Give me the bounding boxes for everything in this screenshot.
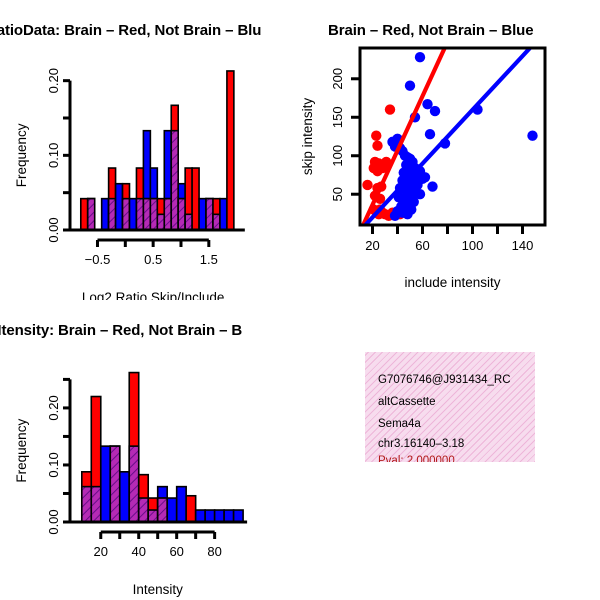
x-axis-label: Intensity: [133, 582, 184, 597]
x-tick-label: −0.5: [85, 252, 111, 267]
event-type-text: altCassette: [378, 396, 436, 408]
hist-bar-brain: [192, 168, 199, 230]
hist-bar-notbrain: [129, 199, 136, 230]
scatter-point-brain: [371, 131, 381, 141]
hist-bar-notbrain: [220, 199, 227, 230]
x-tick-label: 40: [131, 544, 145, 559]
hist-bar-notbrain: [177, 487, 186, 522]
x-tick-label: 20: [94, 544, 108, 559]
hist-bar-overlap: [171, 131, 178, 230]
hist-bar-overlap: [129, 446, 138, 522]
hist-bar-overlap: [139, 498, 148, 522]
scatter-point-notbrain: [402, 209, 412, 219]
hist-bar-overlap: [110, 446, 119, 522]
ratio-histogram-plot: 0.000.100.20Frequency−0.50.51.5Log2 Rati…: [0, 0, 300, 300]
fit-line-notbrain: [363, 48, 531, 228]
hist-bars-group: [81, 71, 234, 230]
hist-bar-overlap: [157, 214, 164, 230]
y-axis-label: Frequency: [14, 123, 29, 187]
figure-canvas: RatioData: Brain – Red, Not Brain – Blu …: [0, 0, 600, 600]
hist-bar-overlap: [150, 199, 157, 230]
y-tick-label: 0.10: [46, 452, 61, 477]
panel-info: G7076746@J931434_RC altCassette Sema4a c…: [300, 300, 600, 600]
scatter-point-notbrain: [390, 211, 400, 221]
hist-bars-group: [82, 373, 243, 522]
info-box: G7076746@J931434_RC altCassette Sema4a c…: [365, 352, 535, 462]
hist-bar-notbrain: [205, 510, 214, 522]
hist-bar-overlap: [164, 199, 171, 230]
y-tick-label: 0.00: [46, 509, 61, 534]
hist-bar-brain: [227, 71, 234, 230]
x-tick-label: 80: [207, 544, 221, 559]
hist-bar-overlap: [109, 199, 116, 230]
x-tick-label: 140: [512, 238, 534, 253]
hist-bar-overlap: [213, 214, 220, 230]
hist-bar-notbrain: [102, 199, 109, 230]
scatter-point-notbrain: [415, 52, 425, 62]
scatter-point-brain: [385, 104, 395, 114]
scatter-inner: [362, 42, 537, 228]
hist-bar-notbrain: [101, 446, 110, 522]
panel-scatter: Brain – Red, Not Brain – Blue 5010015020…: [300, 0, 600, 300]
hist-bar-overlap: [82, 487, 91, 522]
event-id-text: G7076746@J931434_RC: [378, 374, 511, 386]
hist-bar-notbrain: [196, 510, 205, 522]
scatter-point-notbrain: [405, 81, 415, 91]
scatter-point-notbrain: [420, 172, 430, 182]
y-tick-label: 0.10: [46, 143, 61, 168]
y-tick-label: 150: [330, 106, 345, 128]
hist-bar-brain: [186, 496, 195, 522]
hist-bar-overlap: [185, 214, 192, 230]
y-tick-label: 50: [330, 187, 345, 201]
scatter-point-brain: [362, 180, 372, 190]
x-tick-label: 60: [169, 544, 183, 559]
hist-bar-notbrain: [199, 199, 206, 230]
intensity-histogram-plot: 0.000.100.20Frequency20406080Intensity: [0, 300, 300, 600]
scatter-point-notbrain: [527, 131, 537, 141]
y-tick-label: 0.00: [46, 217, 61, 242]
x-axis-label: Log2 Ratio Skip/Include: [82, 290, 225, 300]
y-axis-label: Frequency: [14, 419, 29, 483]
hist-bar-notbrain: [215, 510, 224, 522]
hist-bar-overlap: [143, 199, 150, 230]
hist-bar-overlap: [148, 510, 157, 522]
x-axis-label: include intensity: [404, 275, 500, 290]
x-tick-label: 0.5: [144, 252, 162, 267]
y-tick-label: 0.20: [46, 395, 61, 420]
x-tick-label: 100: [462, 238, 484, 253]
x-tick-label: 60: [415, 238, 429, 253]
gene-name-text: Sema4a: [378, 418, 421, 430]
panel-intensity-histogram: ne Itensity: Brain – Red, Not Brain – B …: [0, 300, 300, 600]
hist-bar-overlap: [178, 199, 185, 230]
scatter-point-notbrain: [427, 181, 437, 191]
scatter-point-notbrain: [425, 129, 435, 139]
x-tick-label: 20: [365, 238, 379, 253]
location-text: chr3.16140–3.18: [378, 438, 464, 450]
hist-bar-brain: [81, 199, 88, 230]
hist-bar-overlap: [88, 199, 95, 230]
hist-bar-notbrain: [167, 498, 176, 522]
hist-bar-overlap: [206, 199, 213, 230]
hist-bar-overlap: [158, 498, 167, 522]
hist-bar-overlap: [136, 199, 143, 230]
y-tick-label: 200: [330, 68, 345, 90]
hist-bar-overlap: [91, 487, 100, 522]
scatter-point-brain: [372, 141, 382, 151]
pvalue-text: Pval: 2.000000: [378, 455, 455, 462]
x-tick-label: 1.5: [200, 252, 218, 267]
y-axis-label: skip intensity: [300, 98, 315, 176]
y-tick-label: 100: [330, 145, 345, 167]
panel-ratio-histogram: RatioData: Brain – Red, Not Brain – Blu …: [0, 0, 300, 300]
hist-bar-notbrain: [234, 510, 243, 522]
y-tick-label: 0.20: [46, 68, 61, 93]
scatter-plot: 50100150200skip intensity2060100140inclu…: [300, 0, 600, 300]
hist-bar-notbrain: [120, 472, 129, 522]
hist-bar-notbrain: [224, 510, 233, 522]
scatter-point-notbrain: [430, 106, 440, 116]
hist-bar-overlap: [123, 199, 130, 230]
hist-bar-notbrain: [116, 184, 123, 230]
